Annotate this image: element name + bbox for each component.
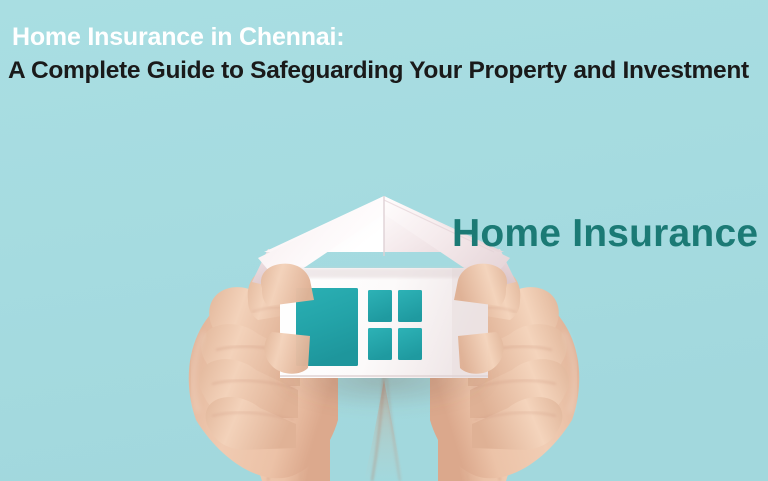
home-insurance-banner: Home Insurance in Chennai: A Complete Gu… (0, 0, 768, 481)
headline-line-1: Home Insurance in Chennai: (12, 22, 768, 52)
headline-block: Home Insurance in Chennai: A Complete Gu… (0, 0, 768, 86)
home-insurance-wordmark: Home Insurance (452, 210, 758, 258)
headline-line-2: A Complete Guide to Safeguarding Your Pr… (8, 56, 768, 86)
